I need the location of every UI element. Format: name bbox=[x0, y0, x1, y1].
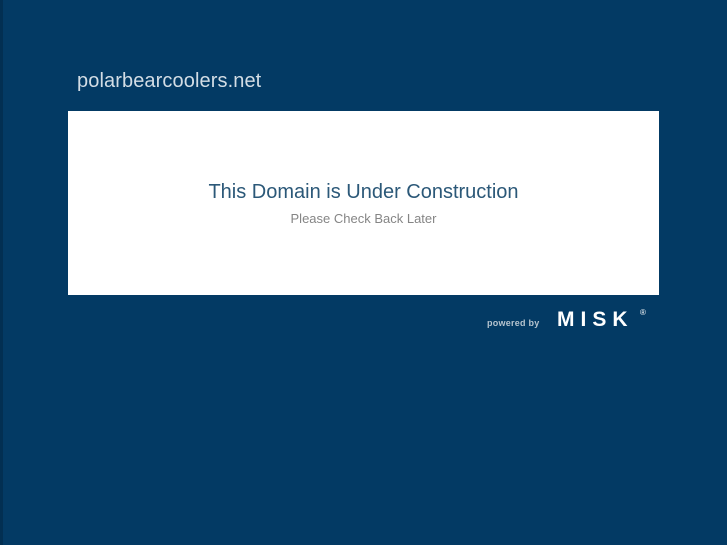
misk-wordmark: MISK bbox=[557, 307, 634, 332]
left-edge-strip bbox=[0, 0, 3, 545]
misk-brand-logo[interactable]: powered by MISK ® bbox=[487, 307, 647, 333]
registered-trademark-icon: ® bbox=[640, 308, 646, 317]
under-construction-heading: This Domain is Under Construction bbox=[68, 180, 659, 204]
under-construction-card: This Domain is Under Construction Please… bbox=[68, 111, 659, 295]
check-back-later-subheading: Please Check Back Later bbox=[68, 210, 659, 227]
parked-domain-page: polarbearcoolers.net This Domain is Unde… bbox=[0, 0, 727, 545]
site-domain-title: polarbearcoolers.net bbox=[77, 69, 261, 93]
powered-by-label: powered by bbox=[487, 318, 540, 329]
